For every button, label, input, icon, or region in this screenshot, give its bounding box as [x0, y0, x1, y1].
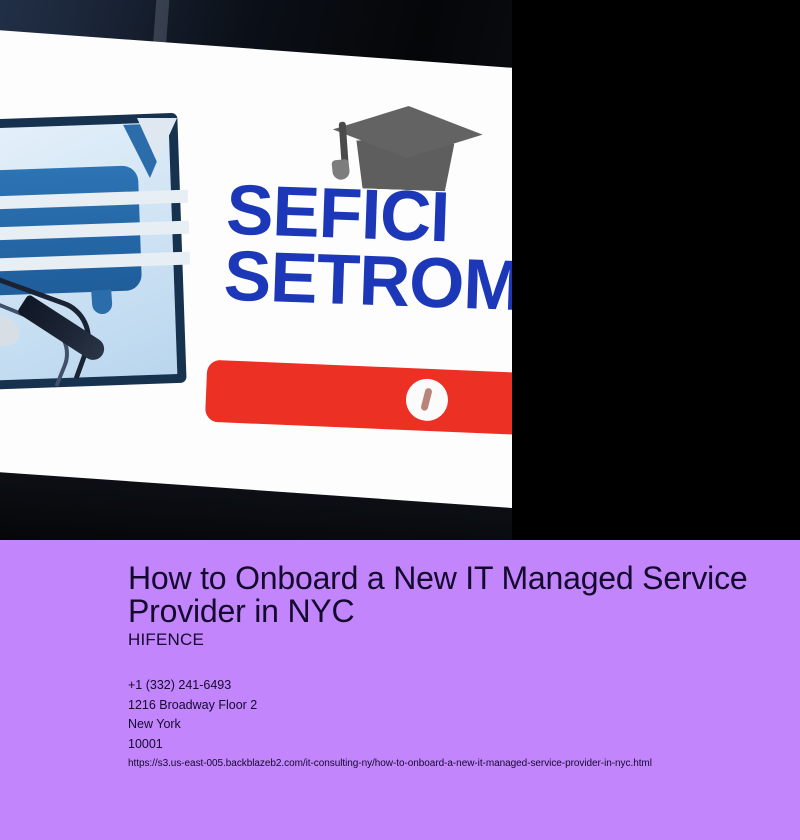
article-card-page: SEFICI SETROM How to Onboard a New IT Ma… — [0, 0, 800, 840]
circle-badge-icon — [405, 378, 449, 422]
contact-details: +1 (332) 241-6493 1216 Broadway Floor 2 … — [128, 676, 257, 754]
hero-media-block: SEFICI SETROM — [0, 0, 800, 540]
contact-phone[interactable]: +1 (332) 241-6493 — [128, 676, 257, 696]
contact-city: New York — [128, 715, 257, 735]
contact-postal-code: 10001 — [128, 735, 257, 755]
monitor-photo: SEFICI SETROM — [0, 0, 512, 540]
source-url[interactable]: https://s3.us-east-005.backblazeb2.com/i… — [128, 758, 652, 769]
brand-name: HIFENCE — [128, 630, 204, 650]
screen-headline: SEFICI SETROM — [223, 178, 512, 325]
article-content-block: How to Onboard a New IT Managed Service … — [0, 540, 800, 840]
contact-street: 1216 Broadway Floor 2 — [128, 696, 257, 716]
screen-headline-line2: SETROM — [223, 244, 512, 325]
page-title: How to Onboard a New IT Managed Service … — [128, 562, 778, 629]
speech-bubble-document-icon — [0, 165, 142, 299]
bubble-notch — [137, 118, 177, 162]
media-letterbox-fill — [512, 0, 800, 540]
